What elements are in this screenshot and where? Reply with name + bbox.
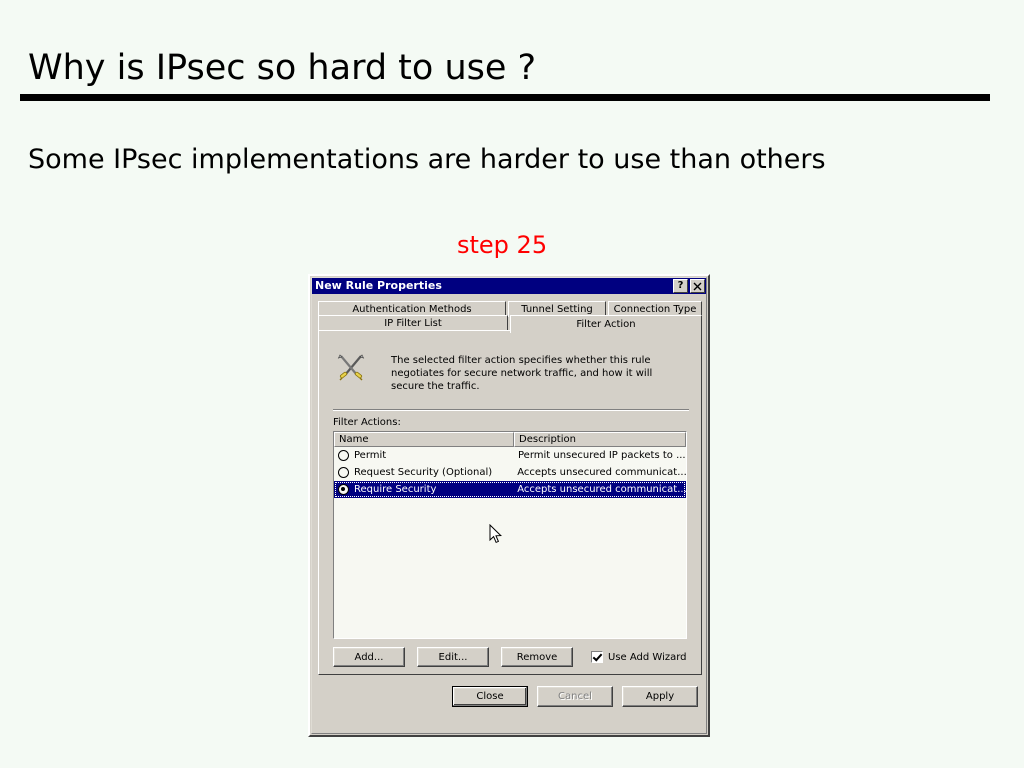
dialog-titlebar[interactable]: New Rule Properties ? xyxy=(312,278,706,294)
filter-action-name: Permit xyxy=(354,450,386,461)
page-title: Why is IPsec so hard to use ? xyxy=(28,48,536,88)
info-text: The selected filter action specifies whe… xyxy=(391,351,687,393)
column-header-name[interactable]: Name xyxy=(334,432,514,447)
close-button[interactable]: Close xyxy=(452,686,528,707)
step-label: step 25 xyxy=(457,231,547,259)
use-add-wizard-checkbox[interactable]: Use Add Wizard xyxy=(591,651,687,663)
filter-action-name: Request Security (Optional) xyxy=(354,467,492,478)
tabstrip: Authentication Methods Tunnel Setting Co… xyxy=(318,301,702,331)
row-name-cell: Request Security (Optional) xyxy=(334,467,513,478)
new-rule-properties-dialog: New Rule Properties ? Authentication Met… xyxy=(308,274,710,737)
filter-action-description: Accepts unsecured communicat... xyxy=(513,484,686,495)
radio-icon[interactable] xyxy=(338,467,349,478)
row-name-cell: Permit xyxy=(334,450,514,461)
edit-button[interactable]: Edit... xyxy=(417,647,489,667)
filter-action-name: Require Security xyxy=(354,484,436,495)
tab-label: IP Filter List xyxy=(384,318,442,329)
tab-label: Connection Type xyxy=(614,304,697,315)
filter-actions-listview[interactable]: Name Description Permit Permit unsecured… xyxy=(333,431,687,639)
add-button[interactable]: Add... xyxy=(333,647,405,667)
radio-icon-checked[interactable] xyxy=(338,484,349,495)
tab-label: Filter Action xyxy=(576,319,635,330)
cancel-button: Cancel xyxy=(537,686,613,707)
use-add-wizard-label: Use Add Wizard xyxy=(608,652,687,663)
column-header-description[interactable]: Description xyxy=(514,432,686,447)
table-row[interactable]: Request Security (Optional) Accepts unse… xyxy=(334,464,686,481)
filter-action-description: Permit unsecured IP packets to ... xyxy=(514,450,686,461)
tab-row-bottom: IP Filter List Filter Action xyxy=(318,315,702,331)
list-action-buttons: Add... Edit... Remove Use Add Wizard xyxy=(333,646,689,668)
apply-button[interactable]: Apply xyxy=(622,686,698,707)
listview-header: Name Description xyxy=(334,432,686,447)
tab-label: Authentication Methods xyxy=(352,304,471,315)
section-divider xyxy=(333,409,689,411)
dialog-title: New Rule Properties xyxy=(315,278,671,294)
tab-label: Tunnel Setting xyxy=(521,304,593,315)
table-row[interactable]: Permit Permit unsecured IP packets to ..… xyxy=(334,447,686,464)
checkbox-icon-checked[interactable] xyxy=(591,651,603,663)
filter-actions-label: Filter Actions: xyxy=(333,417,401,428)
title-divider xyxy=(20,94,990,101)
filter-action-description: Accepts unsecured communicat... xyxy=(513,467,686,478)
table-row-selected[interactable]: Require Security Accepts unsecured commu… xyxy=(334,481,686,498)
tab-ip-filter-list[interactable]: IP Filter List xyxy=(318,315,508,331)
dialog-footer: Close Cancel Apply xyxy=(310,681,708,711)
close-icon[interactable] xyxy=(690,279,705,293)
remove-button[interactable]: Remove xyxy=(501,647,573,667)
tab-filter-action[interactable]: Filter Action xyxy=(510,315,702,333)
slide-subtitle: Some IPsec implementations are harder to… xyxy=(28,144,826,175)
row-name-cell: Require Security xyxy=(334,484,513,495)
filter-action-panel: The selected filter action specifies whe… xyxy=(318,330,702,675)
info-row: The selected filter action specifies whe… xyxy=(335,351,687,393)
crossed-swords-icon xyxy=(335,351,367,383)
help-button[interactable]: ? xyxy=(673,279,688,293)
radio-icon[interactable] xyxy=(338,450,349,461)
